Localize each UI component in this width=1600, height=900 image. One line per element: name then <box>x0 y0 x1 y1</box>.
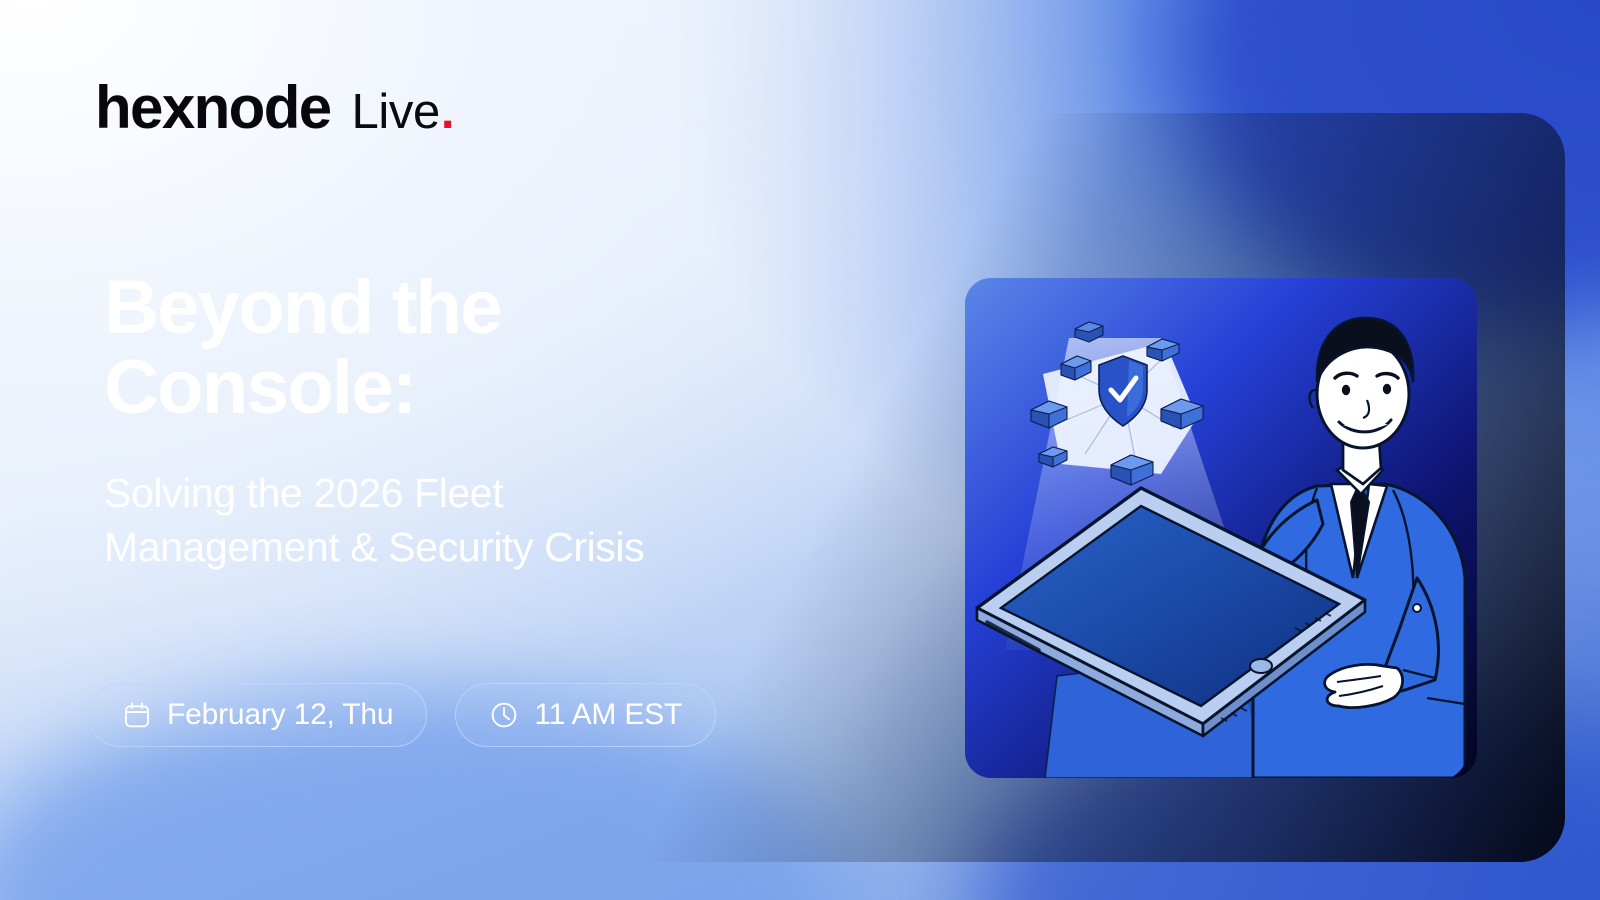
event-date-badge[interactable]: February 12, Thu <box>88 683 427 747</box>
logo-red-dot: . <box>441 88 455 137</box>
event-time-label: 11 AM EST <box>534 698 682 732</box>
page-title: Beyond the Console: <box>104 268 864 428</box>
hero-illustration <box>965 278 1477 778</box>
event-time-badge[interactable]: 11 AM EST <box>455 683 716 747</box>
hexnode-live-logo[interactable]: hexnode Live . <box>95 78 454 138</box>
hero-copy: Beyond the Console: Solving the 2026 Fle… <box>104 268 864 574</box>
logo-live-label: Live <box>352 88 440 137</box>
tablet-home-button <box>1250 659 1272 673</box>
fleet-management-illustration <box>965 278 1477 778</box>
clock-icon <box>489 700 519 730</box>
event-meta-badges: February 12, Thu 11 AM EST <box>88 683 716 747</box>
logo-wordmark: hexnode <box>95 78 331 138</box>
promo-banner: hexnode Live . Beyond the Console: Solvi… <box>0 0 1600 900</box>
page-subtitle: Solving the 2026 Fleet Management & Secu… <box>104 466 864 574</box>
event-date-label: February 12, Thu <box>167 698 393 732</box>
calendar-icon <box>122 700 152 730</box>
